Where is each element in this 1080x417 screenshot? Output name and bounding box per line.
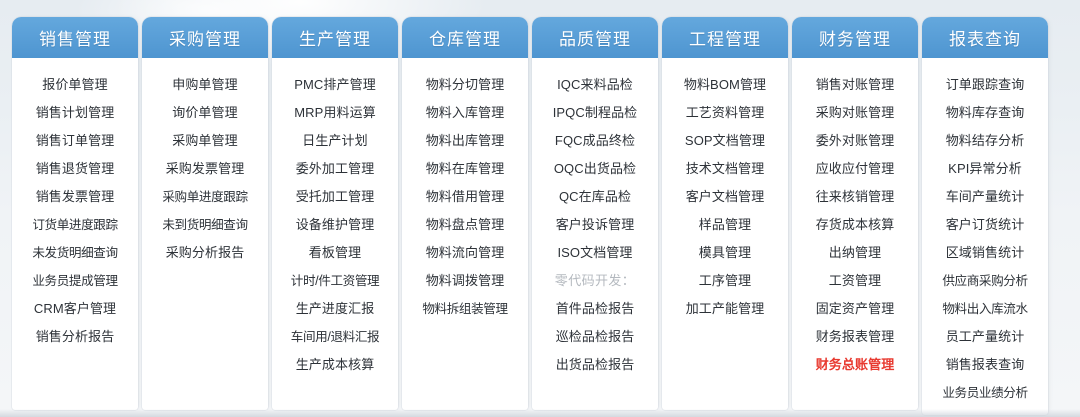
menu-item[interactable]: 采购单进度跟踪	[144, 183, 266, 211]
menu-item[interactable]: 物料结存分析	[924, 127, 1046, 155]
menu-item[interactable]: 供应商采购分析	[924, 267, 1046, 295]
module-card-engineering: 工程管理物料BOM管理工艺资料管理SOP文档管理技术文档管理客户文档管理样品管理…	[662, 17, 788, 410]
menu-item[interactable]: 物料分切管理	[404, 71, 526, 99]
module-card-board: 销售管理报价单管理销售计划管理销售订单管理销售退货管理销售发票管理订货单进度跟踪…	[0, 0, 1080, 417]
menu-item[interactable]: 物料出入库流水	[924, 295, 1046, 323]
module-card-header-finance[interactable]: 财务管理	[792, 17, 918, 58]
erp-module-overview: 销售管理报价单管理销售计划管理销售订单管理销售退货管理销售发票管理订货单进度跟踪…	[0, 0, 1080, 417]
module-card-body-production: PMC排产管理MRP用料运算日生产计划委外加工管理受托加工管理设备维护管理看板管…	[272, 58, 398, 410]
menu-item[interactable]: 申购单管理	[144, 71, 266, 99]
menu-item[interactable]: 销售计划管理	[14, 99, 136, 127]
menu-item[interactable]: 设备维护管理	[274, 211, 396, 239]
menu-item[interactable]: 报价单管理	[14, 71, 136, 99]
menu-item[interactable]: 销售对账管理	[794, 71, 916, 99]
menu-item[interactable]: 销售发票管理	[14, 183, 136, 211]
menu-item[interactable]: 采购对账管理	[794, 99, 916, 127]
menu-item[interactable]: 计时/件工资管理	[274, 267, 396, 295]
menu-item[interactable]: 业务员业绩分析	[924, 379, 1046, 407]
menu-item[interactable]: 物料盘点管理	[404, 211, 526, 239]
module-card-warehouse: 仓库管理物料分切管理物料入库管理物料出库管理物料在库管理物料借用管理物料盘点管理…	[402, 17, 528, 410]
module-card-header-purchase[interactable]: 采购管理	[142, 17, 268, 58]
menu-item[interactable]: 委外加工管理	[274, 155, 396, 183]
menu-item[interactable]: 销售退货管理	[14, 155, 136, 183]
module-card-header-warehouse[interactable]: 仓库管理	[402, 17, 528, 58]
module-card-body-engineering: 物料BOM管理工艺资料管理SOP文档管理技术文档管理客户文档管理样品管理模具管理…	[662, 58, 788, 410]
module-card-header-reports[interactable]: 报表查询	[922, 17, 1048, 58]
menu-item[interactable]: 未发货明细查询	[14, 239, 136, 267]
menu-item[interactable]: IPQC制程品检	[534, 99, 656, 127]
module-card-body-warehouse: 物料分切管理物料入库管理物料出库管理物料在库管理物料借用管理物料盘点管理物料流向…	[402, 58, 528, 410]
menu-item[interactable]: 客户文档管理	[664, 183, 786, 211]
menu-item[interactable]: SOP文档管理	[664, 127, 786, 155]
menu-item[interactable]: 财务总账管理	[794, 351, 916, 379]
menu-item[interactable]: 生产进度汇报	[274, 295, 396, 323]
menu-item[interactable]: 受托加工管理	[274, 183, 396, 211]
module-card-quality: 品质管理IQC来料品检IPQC制程品检FQC成品终检OQC出货品检QC在库品检客…	[532, 17, 658, 410]
menu-item[interactable]: 加工产能管理	[664, 295, 786, 323]
module-card-purchase: 采购管理申购单管理询价单管理采购单管理采购发票管理采购单进度跟踪未到货明细查询采…	[142, 17, 268, 410]
menu-item[interactable]: 订货单进度跟踪	[14, 211, 136, 239]
menu-item[interactable]: 出货品检报告	[534, 351, 656, 379]
menu-item[interactable]: 物料借用管理	[404, 183, 526, 211]
menu-item[interactable]: 存货成本核算	[794, 211, 916, 239]
menu-item[interactable]: 客户订货统计	[924, 211, 1046, 239]
module-card-reports: 报表查询订单跟踪查询物料库存查询物料结存分析KPI异常分析车间产量统计客户订货统…	[922, 17, 1048, 415]
menu-item[interactable]: QC在库品检	[534, 183, 656, 211]
menu-item[interactable]: 工艺资料管理	[664, 99, 786, 127]
menu-item[interactable]: 物料出库管理	[404, 127, 526, 155]
menu-item[interactable]: 出纳管理	[794, 239, 916, 267]
menu-item[interactable]: 首件品检报告	[534, 295, 656, 323]
menu-item[interactable]: 往来核销管理	[794, 183, 916, 211]
menu-item[interactable]: 物料在库管理	[404, 155, 526, 183]
menu-item[interactable]: FQC成品终检	[534, 127, 656, 155]
module-card-header-quality[interactable]: 品质管理	[532, 17, 658, 58]
module-card-header-production[interactable]: 生产管理	[272, 17, 398, 58]
menu-item[interactable]: 工序管理	[664, 267, 786, 295]
menu-item[interactable]: IQC来料品检	[534, 71, 656, 99]
menu-item[interactable]: 看板管理	[274, 239, 396, 267]
module-card-header-sales[interactable]: 销售管理	[12, 17, 138, 58]
menu-item[interactable]: 采购单管理	[144, 127, 266, 155]
menu-item[interactable]: ISO文档管理	[534, 239, 656, 267]
module-card-body-reports: 订单跟踪查询物料库存查询物料结存分析KPI异常分析车间产量统计客户订货统计区域销…	[922, 58, 1048, 415]
menu-item[interactable]: 物料拆组装管理	[404, 295, 526, 323]
menu-item[interactable]: 模具管理	[664, 239, 786, 267]
menu-item[interactable]: KPI异常分析	[924, 155, 1046, 183]
menu-item[interactable]: 采购分析报告	[144, 239, 266, 267]
menu-item[interactable]: 订单跟踪查询	[924, 71, 1046, 99]
menu-item[interactable]: 物料库存查询	[924, 99, 1046, 127]
menu-item[interactable]: 财务报表管理	[794, 323, 916, 351]
menu-item[interactable]: PMC排产管理	[274, 71, 396, 99]
module-card-sales: 销售管理报价单管理销售计划管理销售订单管理销售退货管理销售发票管理订货单进度跟踪…	[12, 17, 138, 410]
menu-item[interactable]: 车间产量统计	[924, 183, 1046, 211]
menu-item[interactable]: 采购发票管理	[144, 155, 266, 183]
menu-item[interactable]: 未到货明细查询	[144, 211, 266, 239]
menu-item[interactable]: 工资管理	[794, 267, 916, 295]
menu-item[interactable]: 物料BOM管理	[664, 71, 786, 99]
menu-item[interactable]: 样品管理	[664, 211, 786, 239]
module-card-body-sales: 报价单管理销售计划管理销售订单管理销售退货管理销售发票管理订货单进度跟踪未发货明…	[12, 58, 138, 410]
menu-item[interactable]: 区域销售统计	[924, 239, 1046, 267]
menu-item[interactable]: 物料流向管理	[404, 239, 526, 267]
menu-item[interactable]: 销售分析报告	[14, 323, 136, 351]
module-card-header-engineering[interactable]: 工程管理	[662, 17, 788, 58]
menu-item[interactable]: OQC出货品检	[534, 155, 656, 183]
menu-item[interactable]: 客户投诉管理	[534, 211, 656, 239]
module-card-body-finance: 销售对账管理采购对账管理委外对账管理应收应付管理往来核销管理存货成本核算出纳管理…	[792, 58, 918, 410]
menu-item[interactable]: 应收应付管理	[794, 155, 916, 183]
menu-item[interactable]: MRP用料运算	[274, 99, 396, 127]
menu-item[interactable]: 询价单管理	[144, 99, 266, 127]
menu-item[interactable]: CRM客户管理	[14, 295, 136, 323]
menu-item[interactable]: 业务员提成管理	[14, 267, 136, 295]
menu-item[interactable]: 车间用/退料汇报	[274, 323, 396, 351]
module-card-body-purchase: 申购单管理询价单管理采购单管理采购发票管理采购单进度跟踪未到货明细查询采购分析报…	[142, 58, 268, 410]
menu-section-label: 零代码开发：	[534, 267, 656, 295]
menu-item[interactable]: 物料入库管理	[404, 99, 526, 127]
menu-item[interactable]: 技术文档管理	[664, 155, 786, 183]
module-card-finance: 财务管理销售对账管理采购对账管理委外对账管理应收应付管理往来核销管理存货成本核算…	[792, 17, 918, 410]
menu-item[interactable]: 固定资产管理	[794, 295, 916, 323]
menu-item[interactable]: 物料调拨管理	[404, 267, 526, 295]
module-card-body-quality: IQC来料品检IPQC制程品检FQC成品终检OQC出货品检QC在库品检客户投诉管…	[532, 58, 658, 410]
menu-item[interactable]: 生产成本核算	[274, 351, 396, 379]
menu-item[interactable]: 销售订单管理	[14, 127, 136, 155]
menu-item[interactable]: 巡检品检报告	[534, 323, 656, 351]
menu-item[interactable]: 委外对账管理	[794, 127, 916, 155]
module-card-production: 生产管理PMC排产管理MRP用料运算日生产计划委外加工管理受托加工管理设备维护管…	[272, 17, 398, 410]
menu-item[interactable]: 日生产计划	[274, 127, 396, 155]
menu-item[interactable]: 员工产量统计	[924, 323, 1046, 351]
menu-item[interactable]: 销售报表查询	[924, 351, 1046, 379]
